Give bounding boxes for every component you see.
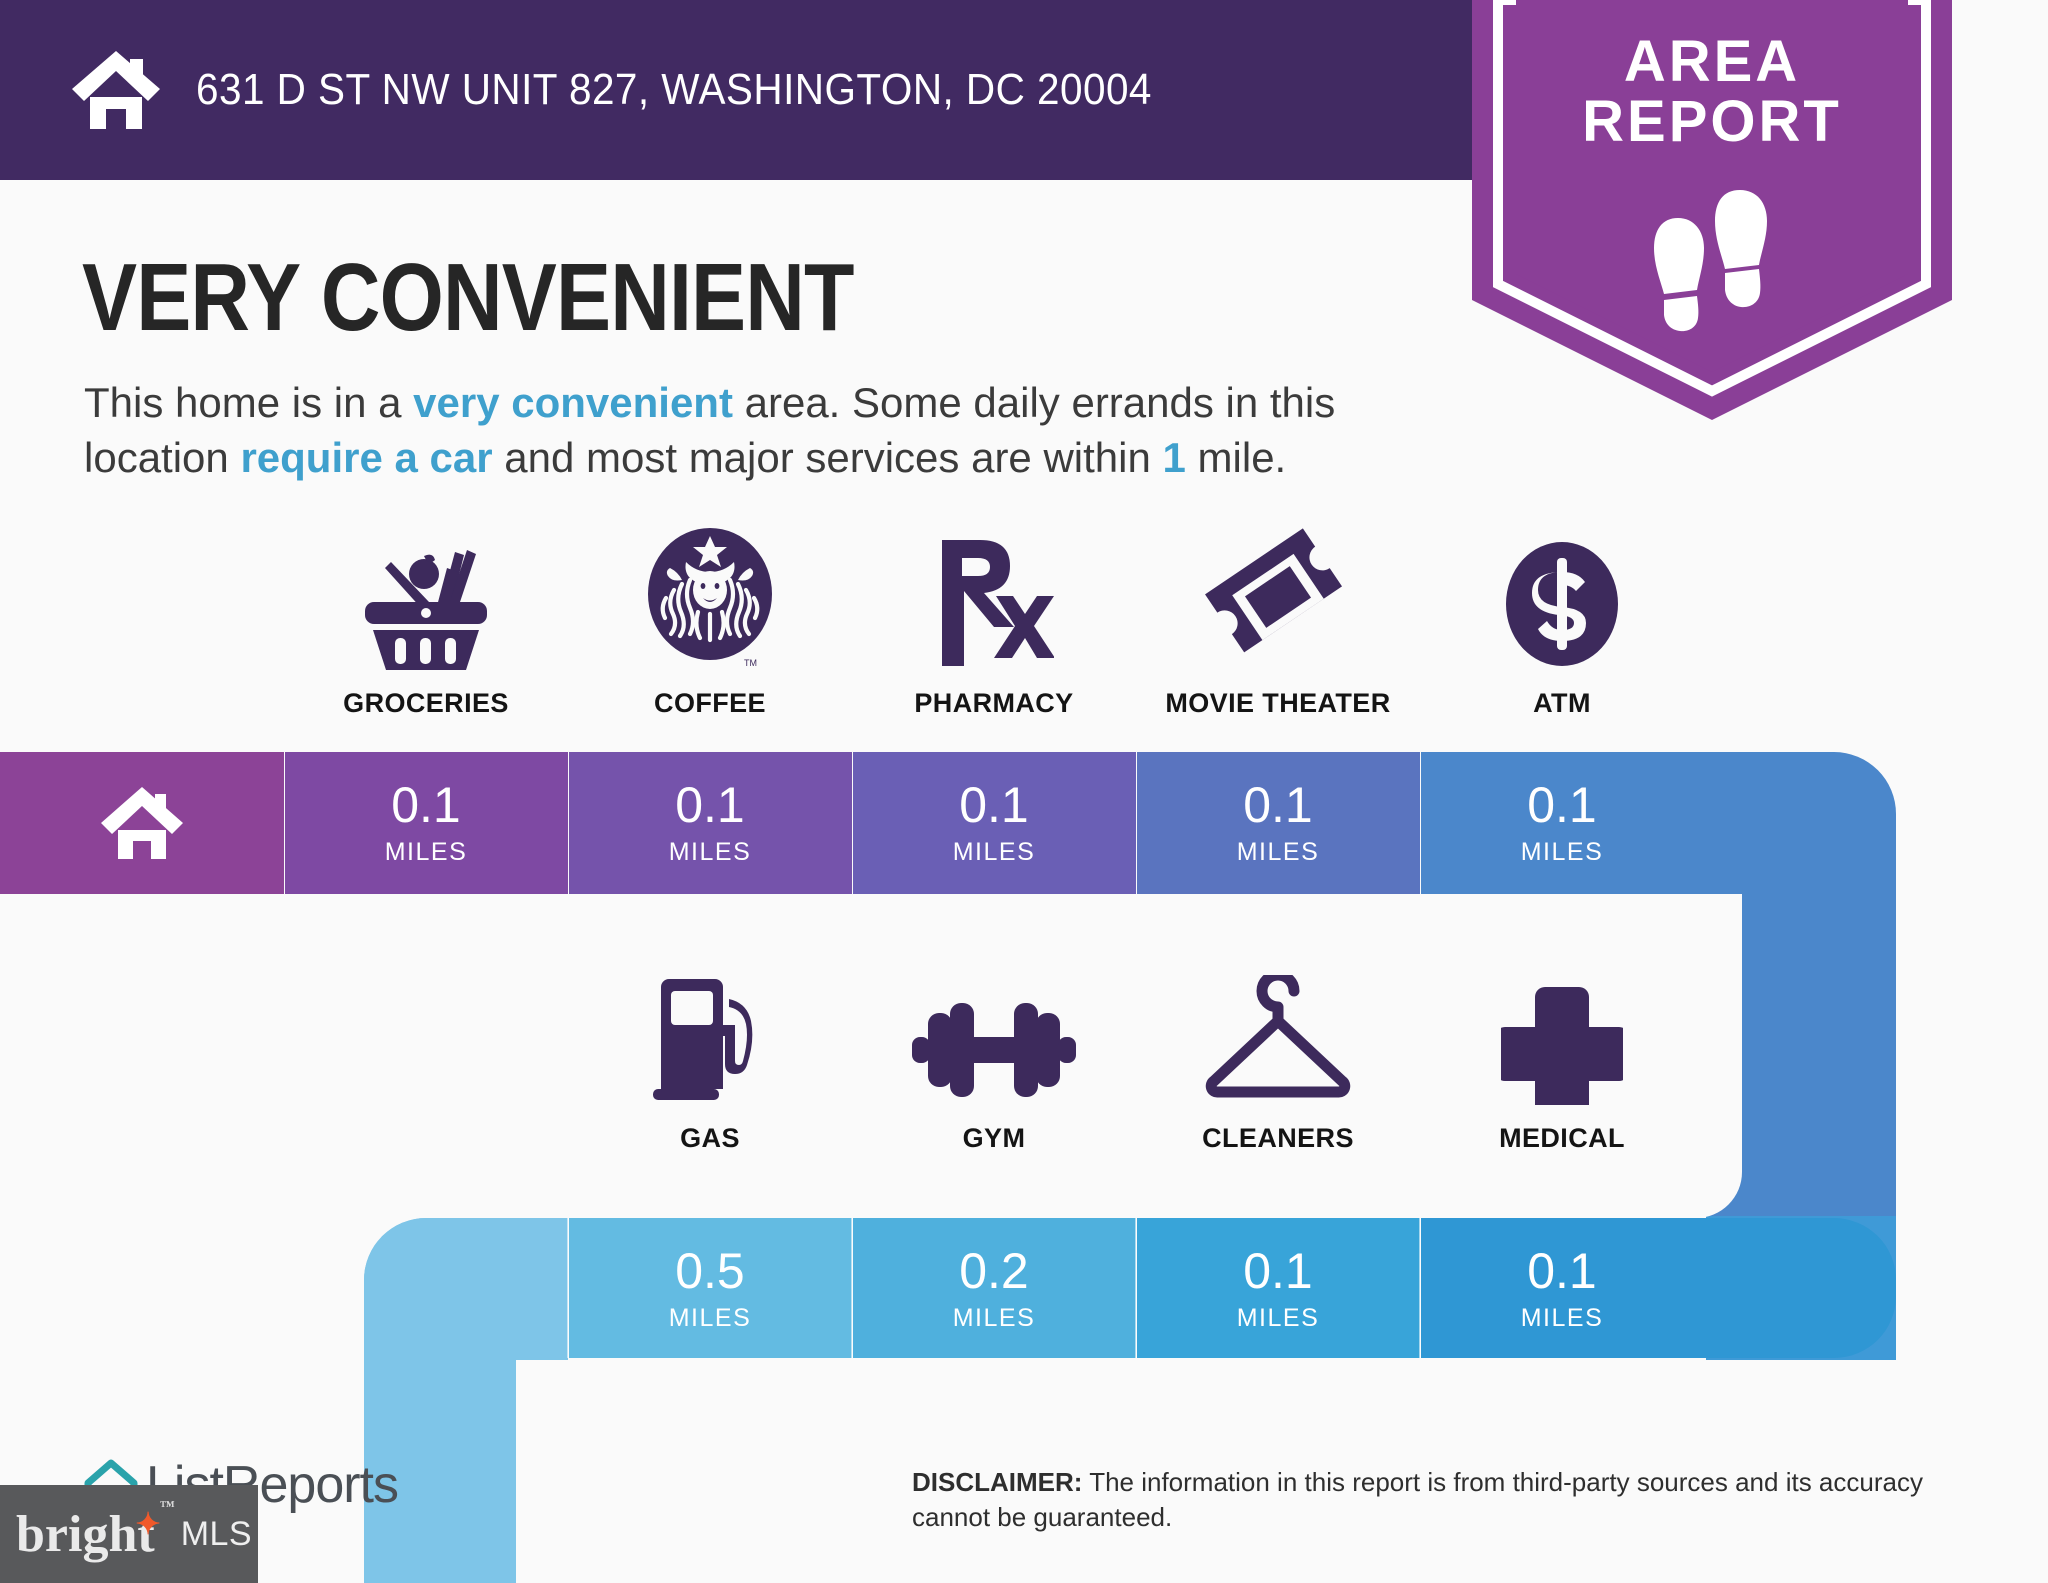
distance-unit: MILES xyxy=(669,1304,752,1333)
spacer-cell xyxy=(0,520,284,719)
amenity-label: MOVIE THEATER xyxy=(1165,688,1390,719)
badge-line-2: REPORT xyxy=(1472,92,1952,152)
distance-value: 0.1 xyxy=(675,780,745,830)
amenity-gas: GAS xyxy=(568,955,852,1154)
amenity-label: COFFEE xyxy=(654,688,766,719)
amenity-label: GYM xyxy=(963,1123,1026,1154)
amenity-cleaners: CLEANERS xyxy=(1136,955,1420,1154)
distance-cell: 0.1 MILES xyxy=(1420,1218,1704,1360)
subtitle-part-3: and most major services are within xyxy=(493,434,1163,481)
rx-icon xyxy=(934,520,1054,670)
distance-cell: 0.1 MILES xyxy=(1136,1218,1420,1360)
area-report-badge: AREA REPORT xyxy=(1472,0,1952,425)
area-report-page: 631 D ST NW UNIT 827, WASHINGTON, DC 200… xyxy=(0,0,2048,1583)
amenity-label: GROCERIES xyxy=(343,688,509,719)
distance-cell: 0.1 MILES xyxy=(1136,752,1420,894)
distance-unit: MILES xyxy=(385,838,468,867)
amenity-label: MEDICAL xyxy=(1499,1123,1625,1154)
bright-mls-watermark: bright ✦ ™ MLS xyxy=(0,1485,258,1583)
distance-cell: 0.5 MILES xyxy=(568,1218,852,1360)
amenity-icon-row-2: GAS GYM xyxy=(0,955,1706,1154)
amenity-groceries: GROCERIES xyxy=(284,520,568,719)
amenity-movie-theater: MOVIE THEATER xyxy=(1136,520,1420,719)
amenity-icon-row-1: GROCERIES xyxy=(0,520,1706,719)
amenity-label: PHARMACY xyxy=(914,688,1073,719)
distance-cell: 0.1 MILES xyxy=(1420,752,1704,894)
spacer-cell xyxy=(0,955,284,1154)
ticket-shape xyxy=(1205,528,1342,652)
page-subtitle: This home is in a very convenient area. … xyxy=(84,375,1474,486)
badge-title: AREA REPORT xyxy=(1472,32,1952,153)
medical-cross-icon xyxy=(1501,955,1623,1105)
distance-cell: 0.1 MILES xyxy=(284,752,568,894)
spacer-cell xyxy=(284,955,568,1154)
trademark-mark: ™ xyxy=(160,1499,175,1516)
badge-line-1: AREA xyxy=(1472,32,1952,92)
svg-text:TM: TM xyxy=(744,658,757,668)
dollar-circle-icon xyxy=(1500,520,1624,670)
distance-unit: MILES xyxy=(669,838,752,867)
distance-unit: MILES xyxy=(953,1304,1036,1333)
distance-value: 0.5 xyxy=(675,1246,745,1296)
gas-pump-icon xyxy=(645,955,775,1105)
distance-value: 0.1 xyxy=(391,780,461,830)
home-icon xyxy=(70,49,162,131)
distance-value: 0.1 xyxy=(1243,1246,1313,1296)
distance-value: 0.1 xyxy=(1527,1246,1597,1296)
distance-unit: MILES xyxy=(1521,838,1604,867)
subtitle-part-4: mile. xyxy=(1186,434,1286,481)
distance-unit: MILES xyxy=(1237,838,1320,867)
distance-value: 0.1 xyxy=(1243,780,1313,830)
distance-unit: MILES xyxy=(953,838,1036,867)
disclaimer: DISCLAIMER: The information in this repo… xyxy=(912,1465,1982,1535)
amenity-label: ATM xyxy=(1533,688,1591,719)
subtitle-highlight-1: very convenient xyxy=(413,379,733,426)
distance-cell: 0.1 MILES xyxy=(568,752,852,894)
bright-wordmark: bright ✦ ™ xyxy=(16,1505,155,1564)
mls-wordmark: MLS xyxy=(181,1515,252,1554)
amenity-atm: ATM xyxy=(1420,520,1704,719)
distance-cell: 0.2 MILES xyxy=(852,1218,1136,1360)
page-title: VERY CONVENIENT xyxy=(82,243,854,353)
amenity-coffee: TM COFFEE xyxy=(568,520,852,719)
subject-home-tile xyxy=(0,752,284,894)
amenity-medical: MEDICAL xyxy=(1420,955,1704,1154)
clothes-hanger-icon xyxy=(1202,955,1354,1105)
disclaimer-label: DISCLAIMER: xyxy=(912,1467,1082,1497)
distance-value: 0.1 xyxy=(959,780,1029,830)
distance-value: 0.1 xyxy=(1527,780,1597,830)
distance-unit: MILES xyxy=(1237,1304,1320,1333)
distance-cell: 0.1 MILES xyxy=(852,752,1136,894)
amenity-gym: GYM xyxy=(852,955,1136,1154)
distance-value: 0.2 xyxy=(959,1246,1029,1296)
distance-unit: MILES xyxy=(1521,1304,1604,1333)
distance-row-1: 0.1 MILES 0.1 MILES 0.1 MILES 0.1 MILES … xyxy=(0,752,1706,894)
subtitle-part-1: This home is in a xyxy=(84,379,413,426)
subtitle-highlight-2: require a car xyxy=(240,434,492,481)
amenity-pharmacy: PHARMACY xyxy=(852,520,1136,719)
star-icon: ✦ xyxy=(136,1507,161,1542)
subtitle-highlight-3: 1 xyxy=(1163,434,1186,481)
amenity-label: CLEANERS xyxy=(1202,1123,1354,1154)
amenity-label: GAS xyxy=(680,1123,740,1154)
property-address: 631 D ST NW UNIT 827, WASHINGTON, DC 200… xyxy=(196,65,1152,115)
dumbbell-icon xyxy=(912,955,1076,1105)
distance-row-2: 0.5 MILES 0.2 MILES 0.1 MILES 0.1 MILES xyxy=(0,1218,1706,1360)
starbucks-siren-icon: TM xyxy=(640,520,780,670)
header-bar: 631 D ST NW UNIT 827, WASHINGTON, DC 200… xyxy=(0,0,1477,180)
ticket-icon xyxy=(1205,520,1351,670)
grocery-basket-icon xyxy=(351,520,501,670)
